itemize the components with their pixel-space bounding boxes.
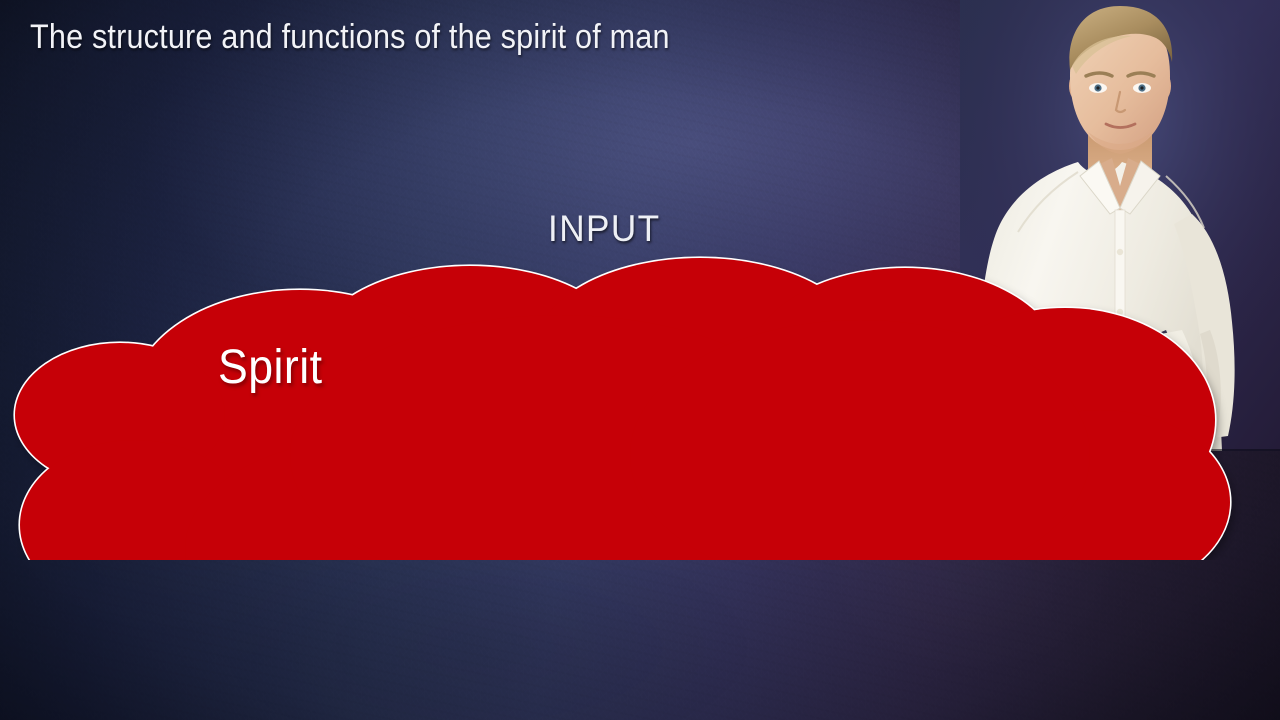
cloud-shape	[0, 240, 1280, 560]
page-title: The structure and functions of the spiri…	[30, 18, 670, 57]
slide-canvas: The structure and functions of the spiri…	[0, 0, 1280, 720]
input-label: INPUT	[548, 208, 661, 250]
cloud-label-spirit: Spirit	[218, 340, 322, 395]
